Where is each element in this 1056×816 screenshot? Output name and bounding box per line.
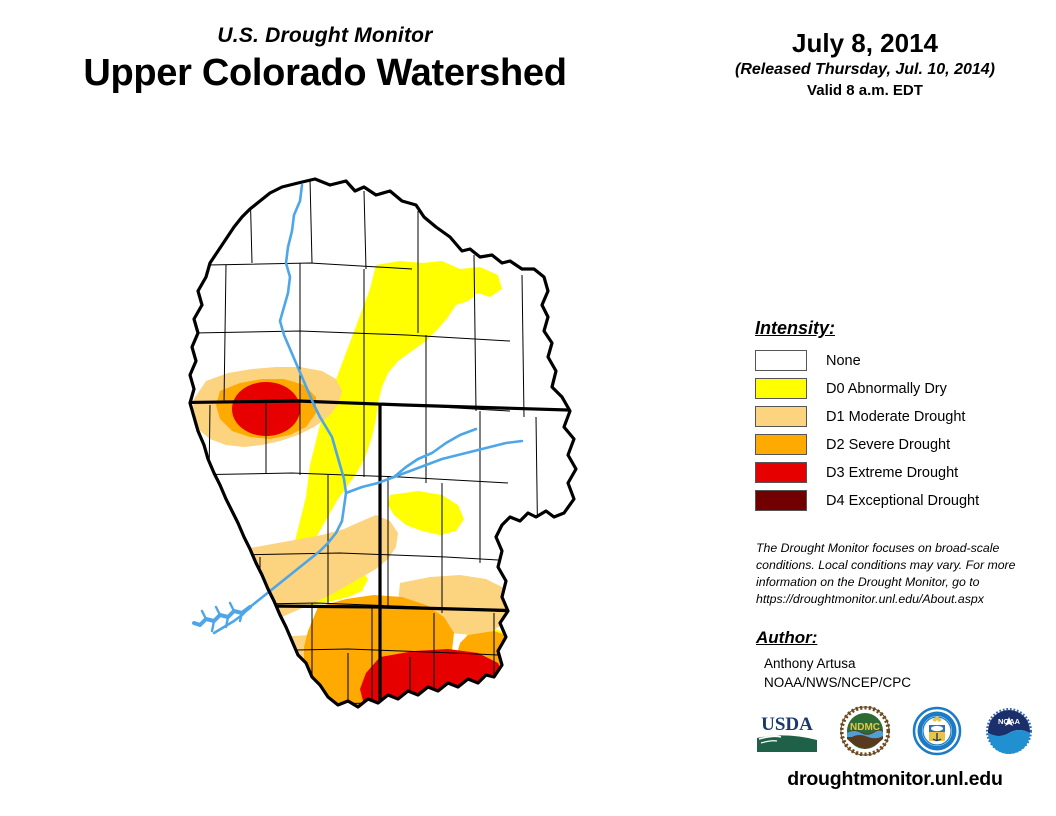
legend-label-d4: D4 Exceptional Drought: [826, 493, 979, 509]
author-affiliation: NOAA/NWS/NCEP/CPC: [764, 673, 1031, 692]
svg-text:NDMC: NDMC: [850, 722, 880, 733]
svg-text:USDA: USDA: [761, 714, 813, 735]
legend-swatch-d3: [755, 462, 807, 483]
disclaimer-text: The Drought Monitor focuses on broad-sca…: [756, 540, 1031, 608]
legend-item-d3[interactable]: D3 Extreme Drought: [755, 460, 1035, 485]
header-left: U.S. Drought Monitor Upper Colorado Wate…: [0, 24, 650, 95]
author-title: Author:: [756, 628, 1031, 648]
header-date-block: July 8, 2014 (Released Thursday, Jul. 10…: [700, 28, 1030, 99]
legend-label-none: None: [826, 353, 861, 369]
site-url[interactable]: droughtmonitor.unl.edu: [755, 768, 1035, 791]
author-block: Author: Anthony Artusa NOAA/NWS/NCEP/CPC: [756, 628, 1031, 692]
legend-label-d0: D0 Abnormally Dry: [826, 381, 947, 397]
legend-item-d4[interactable]: D4 Exceptional Drought: [755, 488, 1035, 513]
unl-seal-logo[interactable]: [912, 706, 962, 756]
legend-label-d1: D1 Moderate Drought: [826, 409, 965, 425]
subtitle: U.S. Drought Monitor: [0, 24, 650, 48]
logo-row: USDA NDMC NOAA: [755, 702, 1035, 760]
svg-text:NOAA: NOAA: [998, 717, 1021, 726]
usda-logo[interactable]: USDA: [755, 708, 819, 754]
legend-item-d2[interactable]: D2 Severe Drought: [755, 432, 1035, 457]
legend-item-none[interactable]: None: [755, 348, 1035, 373]
page-title: Upper Colorado Watershed: [0, 52, 650, 95]
map-date: July 8, 2014: [700, 28, 1030, 59]
legend-swatch-d4: [755, 490, 807, 511]
noaa-logo[interactable]: NOAA: [983, 707, 1035, 755]
drought-map-svg[interactable]: [150, 165, 600, 805]
legend-swatch-d2: [755, 434, 807, 455]
drought-map[interactable]: [150, 165, 600, 805]
ndmc-logo[interactable]: NDMC: [840, 706, 890, 756]
legend: Intensity: None D0 Abnormally Dry D1 Mod…: [755, 318, 1035, 516]
legend-swatch-none: [755, 350, 807, 371]
release-date: (Released Thursday, Jul. 10, 2014): [700, 61, 1030, 79]
legend-item-d0[interactable]: D0 Abnormally Dry: [755, 376, 1035, 401]
legend-label-d3: D3 Extreme Drought: [826, 465, 958, 481]
legend-item-d1[interactable]: D1 Moderate Drought: [755, 404, 1035, 429]
legend-swatch-d1: [755, 406, 807, 427]
valid-time: Valid 8 a.m. EDT: [700, 82, 1030, 99]
legend-swatch-d0: [755, 378, 807, 399]
author-name: Anthony Artusa: [764, 654, 1031, 673]
legend-title: Intensity:: [755, 318, 1035, 339]
legend-label-d2: D2 Severe Drought: [826, 437, 950, 453]
